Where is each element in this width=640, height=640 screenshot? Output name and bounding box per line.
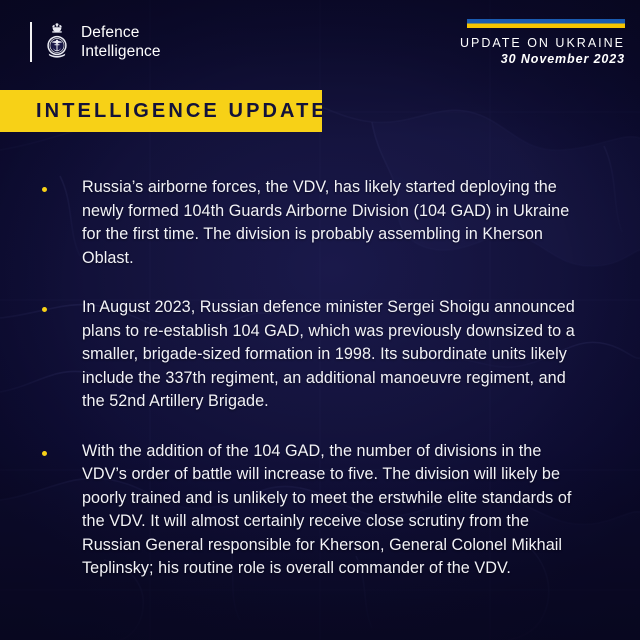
bullet-list: Russia’s airborne forces, the VDV, has l… <box>42 176 587 581</box>
brand-name: Defence Intelligence <box>81 23 161 61</box>
bullet-dot-icon <box>42 187 47 192</box>
header: Defence Intelligence UPDATE ON UKRAINE 3… <box>0 0 640 84</box>
ukraine-flag-bar-icon <box>467 19 625 28</box>
royal-crest-icon <box>42 22 72 62</box>
list-item: Russia’s airborne forces, the VDV, has l… <box>42 176 587 270</box>
intelligence-update-banner: INTELLIGENCE UPDATE <box>0 90 322 132</box>
brand-line-intelligence: Intelligence <box>81 42 161 61</box>
intelligence-update-graphic: Defence Intelligence UPDATE ON UKRAINE 3… <box>0 0 640 640</box>
bullet-paragraph: Russia’s airborne forces, the VDV, has l… <box>82 176 587 270</box>
bullet-paragraph: With the addition of the 104 GAD, the nu… <box>82 440 587 581</box>
update-block: UPDATE ON UKRAINE 30 November 2023 <box>460 19 625 68</box>
update-date: 30 November 2023 <box>460 51 625 68</box>
update-label: UPDATE ON UKRAINE <box>460 35 625 51</box>
brand-lockup: Defence Intelligence <box>30 22 161 62</box>
banner-title: INTELLIGENCE UPDATE <box>36 100 328 123</box>
bullet-dot-icon <box>42 307 47 312</box>
list-item: In August 2023, Russian defence minister… <box>42 296 587 414</box>
brand-divider-rule <box>30 22 32 62</box>
brand-line-defence: Defence <box>81 23 161 42</box>
bullet-paragraph: In August 2023, Russian defence minister… <box>82 296 587 414</box>
bullet-dot-icon <box>42 451 47 456</box>
list-item: With the addition of the 104 GAD, the nu… <box>42 440 587 581</box>
